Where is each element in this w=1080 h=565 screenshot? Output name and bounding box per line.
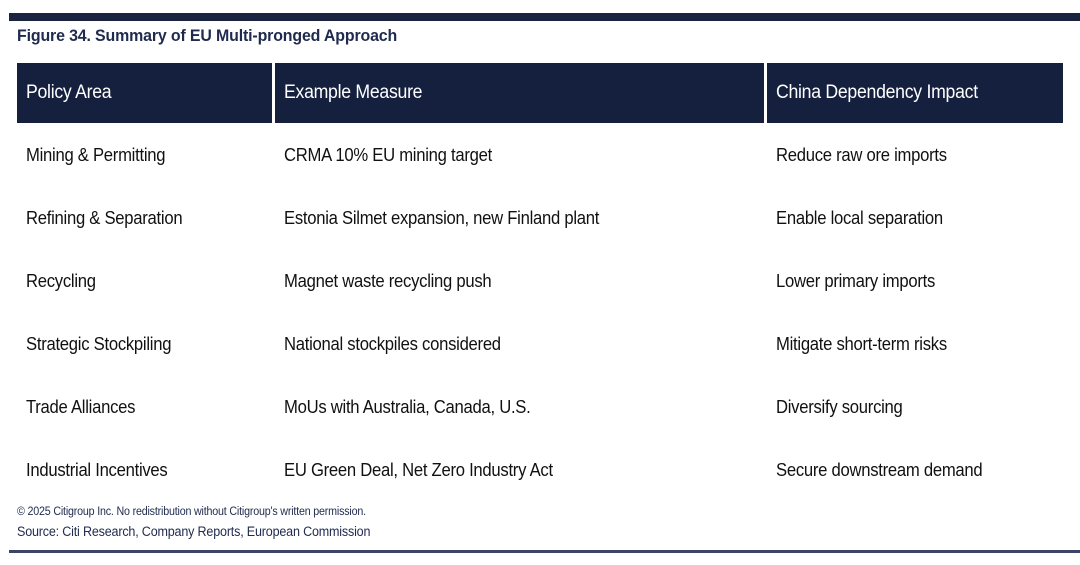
cell-policy-area: Mining & Permitting <box>17 123 272 186</box>
column-header-label: Policy Area <box>26 82 111 104</box>
cell-china-dependency-impact: Diversify sourcing <box>767 375 1063 438</box>
table-row: Recycling Magnet waste recycling push Lo… <box>17 249 1063 312</box>
cell-text: Mining & Permitting <box>26 144 165 166</box>
bottom-divider-rule <box>9 550 1080 553</box>
table-header-row: Policy Area Example Measure China Depend… <box>17 63 1063 123</box>
cell-text: MoUs with Australia, Canada, U.S. <box>284 396 531 418</box>
column-header-label: China Dependency Impact <box>776 82 978 104</box>
cell-text: Mitigate short-term risks <box>776 333 947 355</box>
cell-text: National stockpiles considered <box>284 333 501 355</box>
column-header-policy-area: Policy Area <box>17 63 272 123</box>
cell-text: Secure downstream demand <box>776 459 982 481</box>
table-row: Industrial Incentives EU Green Deal, Net… <box>17 438 1063 501</box>
cell-text: Recycling <box>26 270 96 292</box>
cell-text: Strategic Stockpiling <box>26 333 171 355</box>
cell-example-measure: Estonia Silmet expansion, new Finland pl… <box>275 186 764 249</box>
cell-text: CRMA 10% EU mining target <box>284 144 492 166</box>
cell-example-measure: CRMA 10% EU mining target <box>275 123 764 186</box>
cell-china-dependency-impact: Reduce raw ore imports <box>767 123 1063 186</box>
column-header-label: Example Measure <box>284 82 422 104</box>
cell-text: Reduce raw ore imports <box>776 144 947 166</box>
table-row: Trade Alliances MoUs with Australia, Can… <box>17 375 1063 438</box>
cell-policy-area: Strategic Stockpiling <box>17 312 272 375</box>
cell-policy-area: Recycling <box>17 249 272 312</box>
cell-china-dependency-impact: Enable local separation <box>767 186 1063 249</box>
cell-text: Magnet waste recycling push <box>284 270 491 292</box>
cell-text: Lower primary imports <box>776 270 935 292</box>
cell-text: EU Green Deal, Net Zero Industry Act <box>284 459 553 481</box>
cell-example-measure: EU Green Deal, Net Zero Industry Act <box>275 438 764 501</box>
cell-text: Estonia Silmet expansion, new Finland pl… <box>284 207 599 229</box>
cell-example-measure: National stockpiles considered <box>275 312 764 375</box>
table-body: Mining & Permitting CRMA 10% EU mining t… <box>17 123 1063 501</box>
cell-china-dependency-impact: Mitigate short-term risks <box>767 312 1063 375</box>
top-divider-rule <box>9 13 1080 21</box>
cell-text: Industrial Incentives <box>26 459 167 481</box>
cell-example-measure: Magnet waste recycling push <box>275 249 764 312</box>
cell-text: Refining & Separation <box>26 207 182 229</box>
cell-policy-area: Refining & Separation <box>17 186 272 249</box>
column-header-china-dependency-impact: China Dependency Impact <box>767 63 1063 123</box>
source-note: Source: Citi Research, Company Reports, … <box>17 523 990 541</box>
column-header-example-measure: Example Measure <box>275 63 764 123</box>
figure-footer: © 2025 Citigroup Inc. No redistribution … <box>17 505 1063 541</box>
table-row: Refining & Separation Estonia Silmet exp… <box>17 186 1063 249</box>
cell-china-dependency-impact: Secure downstream demand <box>767 438 1063 501</box>
cell-policy-area: Industrial Incentives <box>17 438 272 501</box>
cell-text: Enable local separation <box>776 207 943 229</box>
figure-title: Figure 34. Summary of EU Multi-pronged A… <box>17 27 397 46</box>
cell-example-measure: MoUs with Australia, Canada, U.S. <box>275 375 764 438</box>
copyright-notice: © 2025 Citigroup Inc. No redistribution … <box>17 505 990 520</box>
summary-table: Policy Area Example Measure China Depend… <box>17 63 1063 501</box>
table-row: Strategic Stockpiling National stockpile… <box>17 312 1063 375</box>
cell-china-dependency-impact: Lower primary imports <box>767 249 1063 312</box>
table-row: Mining & Permitting CRMA 10% EU mining t… <box>17 123 1063 186</box>
cell-policy-area: Trade Alliances <box>17 375 272 438</box>
cell-text: Diversify sourcing <box>776 396 903 418</box>
cell-text: Trade Alliances <box>26 396 135 418</box>
